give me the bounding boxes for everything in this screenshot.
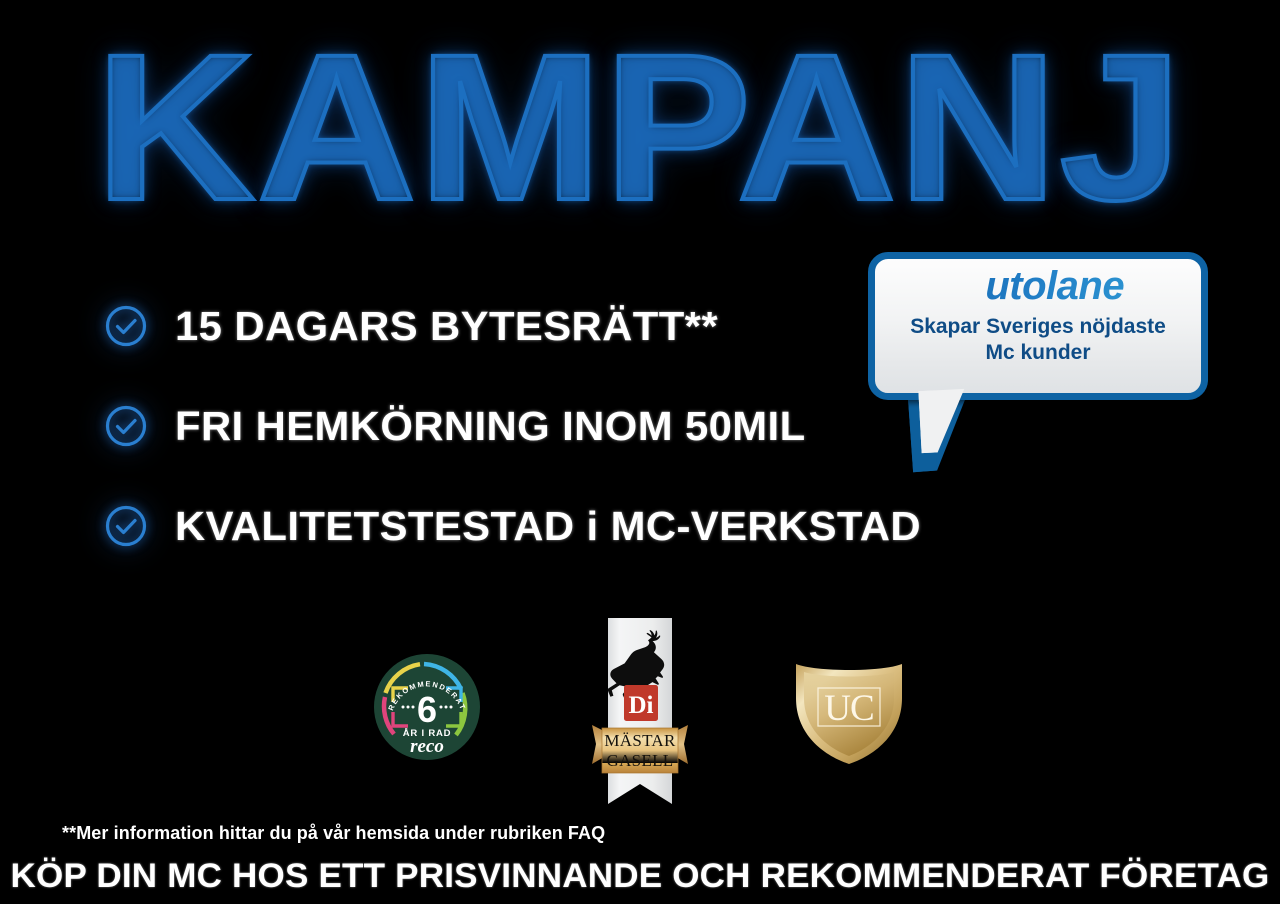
ribbon-line-1: MÄSTAR <box>604 731 676 750</box>
footnote-text: **Mer information hittar du på vår hemsi… <box>62 823 605 844</box>
feature-label: 15 DAGARS BYTESRÄTT** <box>175 303 718 350</box>
di-logo-text: Di <box>629 692 654 719</box>
list-item: FRI HEMKÖRNING INOM 50MIL <box>104 390 904 462</box>
autolane-tagline: Skapar Sveriges nöjdaste Mc kunder <box>878 314 1198 366</box>
campaign-banner: KAMPANJ 15 DAGARS BYTESRÄTT** FRI HEMKÖR… <box>0 0 1280 904</box>
list-item: 15 DAGARS BYTESRÄTT** <box>104 290 904 362</box>
autolane-tagline-line1: Skapar Sveriges nöjdaste <box>910 315 1166 338</box>
award-badges: REKOMMENDERAT 6 ÅR I RAD reco <box>340 598 940 823</box>
feature-label: FRI HEMKÖRNING INOM 50MIL <box>175 403 806 450</box>
reco-wordmark: reco <box>410 736 444 757</box>
speech-bubble: Autolane Skapar Sveriges nöjdaste Mc kun… <box>868 252 1208 467</box>
list-item: KVALITETSTESTAD i MC-VERKSTAD <box>104 490 904 562</box>
feature-label: KVALITETSTESTAD i MC-VERKSTAD <box>175 503 921 550</box>
ribbon-line-2: GASELL <box>607 751 674 770</box>
reco-badge: REKOMMENDERAT 6 ÅR I RAD reco <box>372 652 482 762</box>
check-circle-icon <box>104 504 148 548</box>
speech-bubble-tail-fill <box>918 389 967 453</box>
uc-badge: UC <box>792 650 906 766</box>
gold-ribbon: MÄSTAR GASELL <box>592 725 688 773</box>
gasell-badge: Di MÄSTAR GASELL <box>588 618 692 823</box>
reco-number: 6 <box>417 689 437 730</box>
autolane-logo: Autolane <box>868 264 1208 309</box>
bottom-tagline: KÖP DIN MC HOS ETT PRISVINNANDE OCH REKO… <box>0 857 1280 896</box>
autolane-logo-a: A <box>952 266 985 306</box>
feature-list: 15 DAGARS BYTESRÄTT** FRI HEMKÖRNING INO… <box>104 290 904 590</box>
check-circle-icon <box>104 404 148 448</box>
autolane-logo-rest: utolane <box>985 264 1124 308</box>
uc-label: UC <box>824 688 873 729</box>
check-circle-icon <box>104 304 148 348</box>
di-logo: Di <box>624 685 658 721</box>
page-title: KAMPANJ <box>0 28 1280 228</box>
autolane-tagline-line2: Mc kunder <box>985 341 1090 364</box>
